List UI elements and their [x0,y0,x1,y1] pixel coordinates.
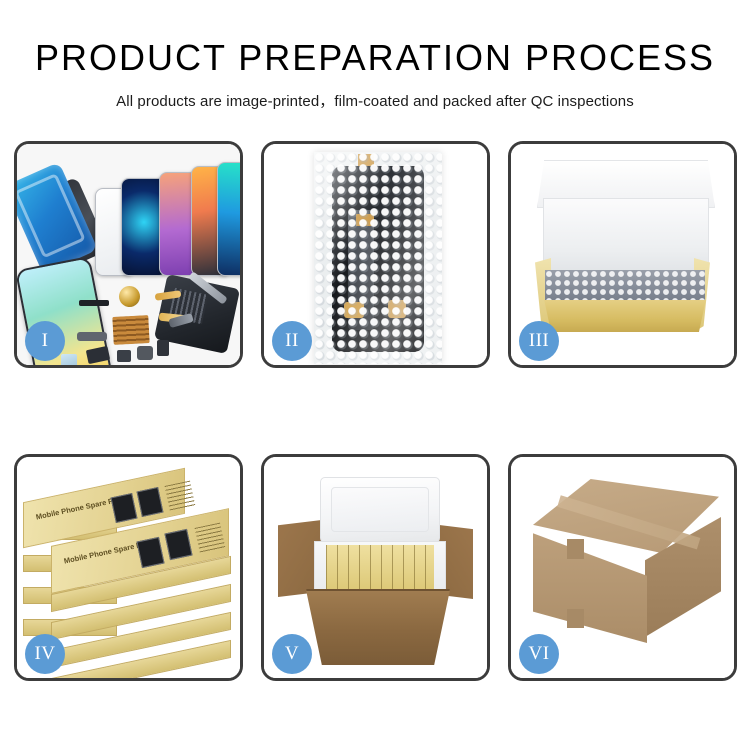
battery-connector-part [157,340,169,356]
step-panel-3[interactable]: III [508,141,737,368]
step-panel-2[interactable]: II [261,141,490,368]
bubble-wrap-bag [314,152,442,364]
outer-carton-body [300,591,456,665]
connector-part-a [77,332,107,341]
kraft-box-front [539,300,711,332]
step-panel-6[interactable]: VI [508,454,737,681]
packing-tape-front-upper [567,539,584,559]
step-badge-4: IV [25,634,65,674]
phone-screen-teal [217,162,240,276]
step-badge-3: III [519,321,559,361]
box-label-textlines-2 [195,523,226,554]
step-badge-6: VI [519,634,559,674]
white-foam-sheet [543,198,709,274]
packing-tape-front-lower [567,609,584,628]
product-preparation-process-page: PRODUCT PREPARATION PROCESS All products… [0,0,750,750]
page-title: PRODUCT PREPARATION PROCESS [0,0,750,76]
speaker-part [79,300,109,306]
page-subtitle: All products are image-printed，film-coat… [0,76,750,111]
vibration-motor-part [119,286,140,307]
bubble-wrap-contents [545,270,705,302]
screw-tray-part [112,315,149,345]
header: PRODUCT PREPARATION PROCESS All products… [0,0,750,111]
chip-part-b [137,346,153,360]
step-badge-5: V [272,634,312,674]
step-panel-1[interactable]: I [14,141,243,368]
carton-front-face [533,531,647,643]
eps-foam-lid [320,477,440,543]
step-badge-1: I [25,321,65,361]
phone-screen-lineup [95,156,235,276]
yellow-inner-boxes [326,545,434,589]
plastic-sheen [314,152,442,364]
box-label-textlines-1 [165,481,196,512]
sim-tray-part [61,354,77,365]
step-panel-5[interactable]: V [261,454,490,681]
step-panel-4[interactable]: Mobile Phone Spare Parts Mobile Phone Sp… [14,454,243,681]
chip-part-a [117,350,131,362]
step-badge-2: II [272,321,312,361]
process-steps-grid: I II [14,141,736,686]
